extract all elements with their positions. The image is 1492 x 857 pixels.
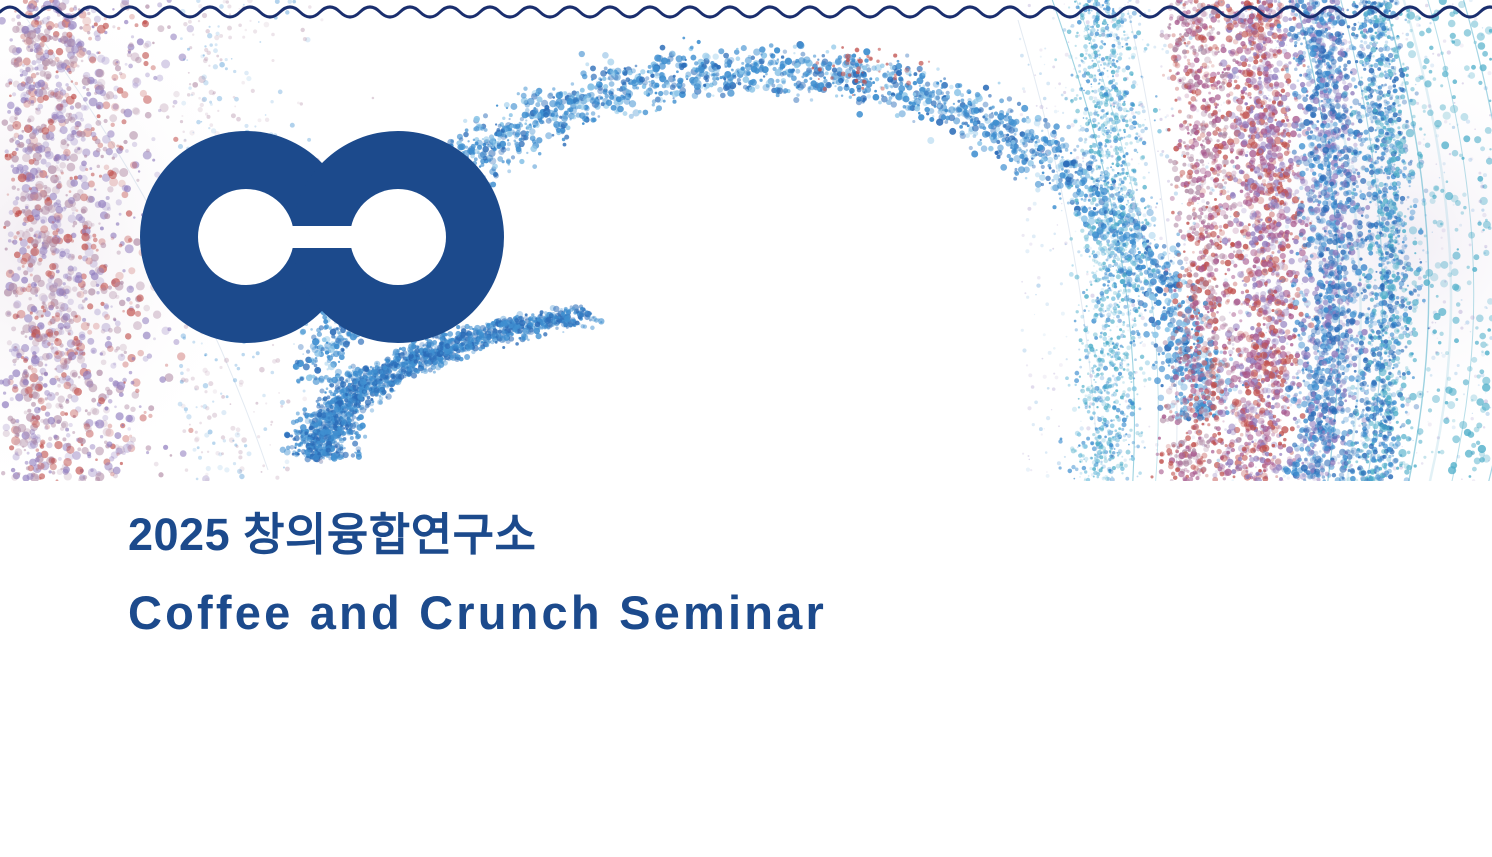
institute-logo [140,131,504,343]
page-title-english: Coffee and Crunch Seminar [128,585,1228,640]
wave-divider [0,0,1492,26]
title-block: 2025 창의융합연구소 Coffee and Crunch Seminar [128,508,1228,641]
logo-infinity-mark [140,131,504,343]
presentation-slide: 2025 창의융합연구소 Coffee and Crunch Seminar [0,0,1492,857]
hero-banner [0,0,1492,481]
page-title-korean: 2025 창의융합연구소 [128,508,1228,561]
